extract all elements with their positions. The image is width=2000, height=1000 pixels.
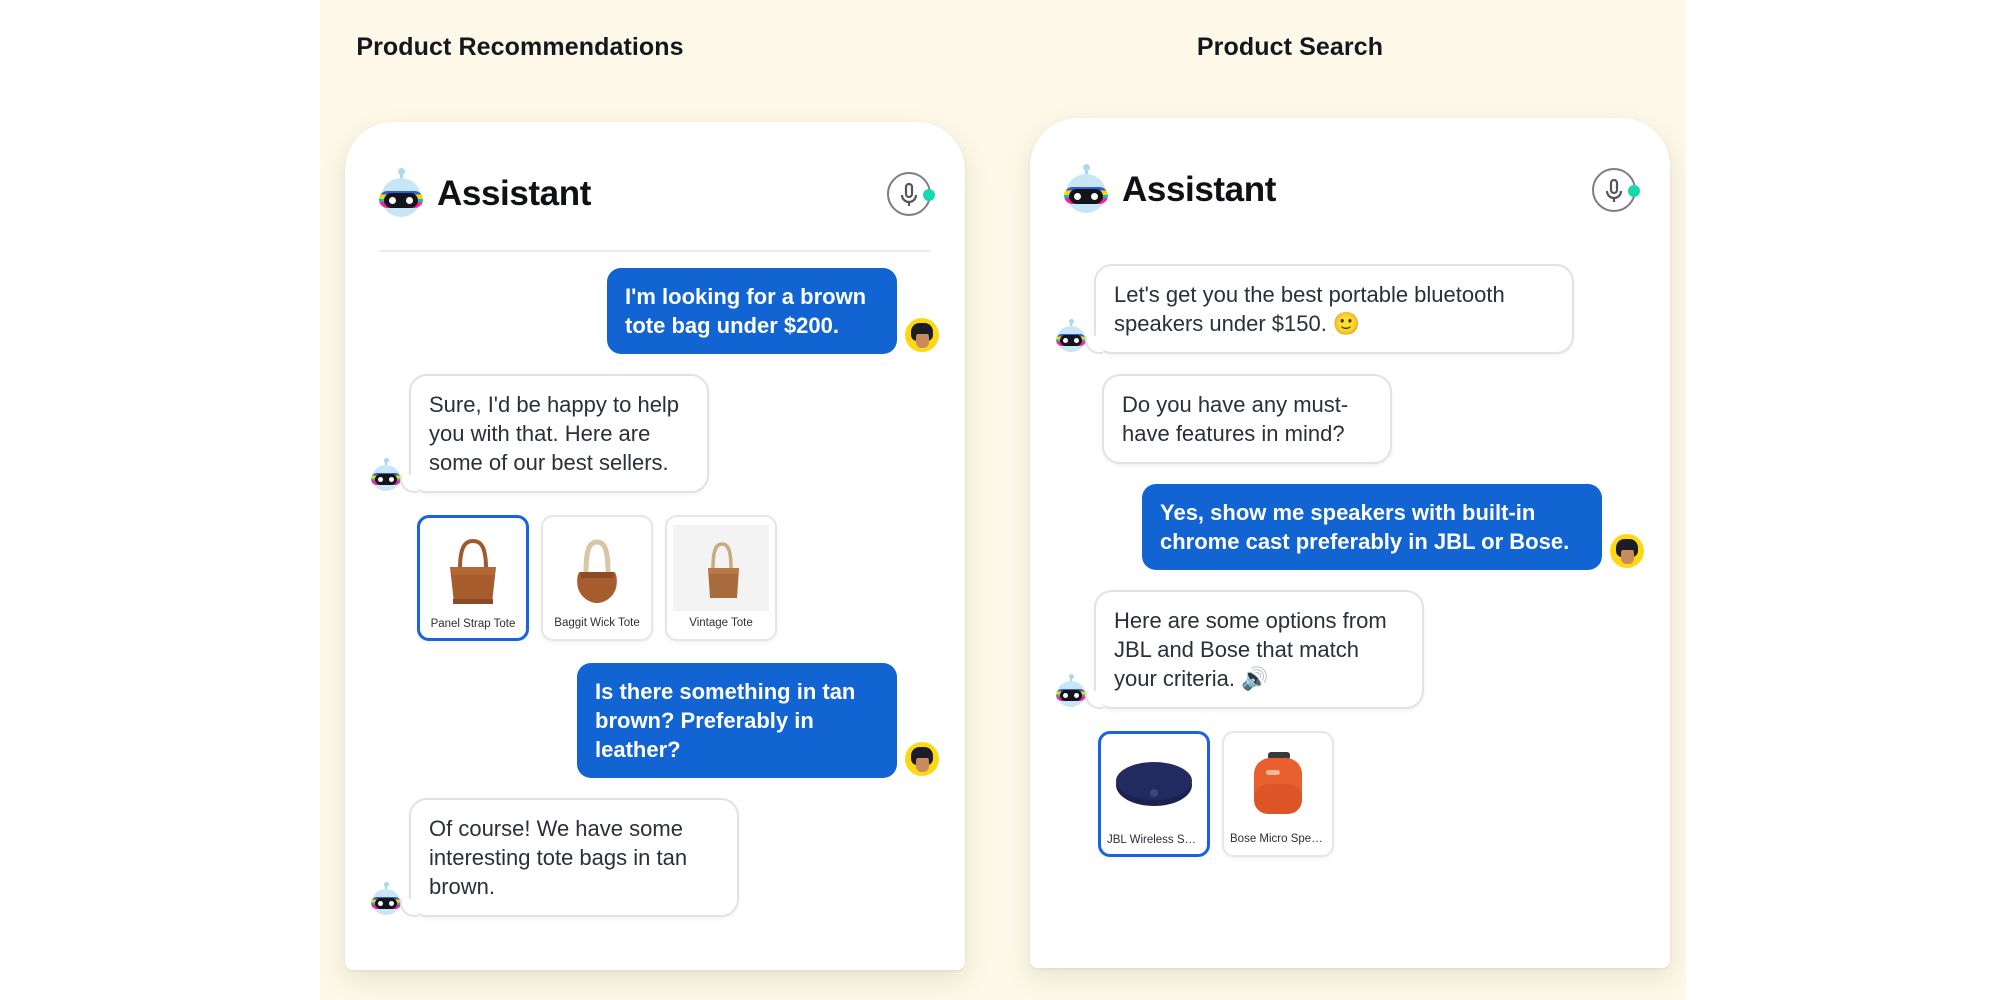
message-row-user: I'm looking for a brown tote bag under $… [371, 268, 939, 354]
user-message-bubble[interactable]: I'm looking for a brown tote bag under $… [607, 268, 897, 354]
brown-round-tote-bag-image [549, 525, 645, 611]
bot-avatar [371, 460, 401, 491]
orange-micro-speaker-image [1230, 741, 1326, 827]
product-card-label: Panel Strap Tote [431, 618, 516, 630]
message-thread-recommendations: I'm looking for a brown tote bag under $… [345, 252, 965, 917]
message-row-user: Is there something in tan brown? Prefera… [371, 663, 939, 778]
bot-message-bubble[interactable]: Let's get you the best portable bluetoot… [1094, 264, 1574, 354]
bot-message-bubble[interactable]: Do you have any must-have features in mi… [1102, 374, 1392, 464]
screenshot-stage: Product Recommendations Assistant [0, 0, 2000, 1000]
product-card-list-speakers: JBL Wireless Sp… Bose Micro Spea… [1056, 729, 1644, 879]
assistant-title: Assistant [1122, 170, 1276, 210]
chat-panel-product-recommendations: Assistant I'm looking for a brown tote b… [345, 122, 965, 970]
product-card[interactable]: Baggit Wick Tote [541, 515, 653, 641]
listening-status-dot [923, 189, 935, 201]
user-avatar [905, 742, 939, 776]
bot-message-bubble[interactable]: Of course! We have some interesting tote… [409, 798, 739, 917]
message-row-bot: Here are some options from JBL and Bose … [1056, 590, 1644, 709]
product-card-label: Bose Micro Spea… [1230, 833, 1326, 845]
message-row-bot: Of course! We have some interesting tote… [371, 798, 939, 917]
panel-title-product-recommendations: Product Recommendations [320, 33, 720, 62]
bot-avatar [1056, 676, 1086, 707]
product-card[interactable]: JBL Wireless Sp… [1098, 731, 1210, 857]
message-row-user: Yes, show me speakers with built-in chro… [1056, 484, 1644, 570]
assistant-title: Assistant [437, 174, 591, 214]
product-card-label: Vintage Tote [689, 617, 753, 629]
user-avatar [905, 318, 939, 352]
robot-avatar-icon [1064, 167, 1108, 213]
product-card-label: JBL Wireless Sp… [1107, 834, 1201, 846]
microphone-icon[interactable] [887, 172, 931, 216]
user-message-bubble[interactable]: Is there something in tan brown? Prefera… [577, 663, 897, 778]
chat-panel-product-search: Assistant Let's get you the best p [1030, 118, 1670, 968]
panel-title-product-search: Product Search [1160, 33, 1420, 62]
robot-avatar-icon [379, 171, 423, 217]
microphone-icon[interactable] [1592, 168, 1636, 212]
brown-tote-bag-image [426, 526, 520, 612]
product-card[interactable]: Panel Strap Tote [417, 515, 529, 641]
assistant-header: Assistant [1030, 118, 1670, 228]
bot-message-bubble[interactable]: Here are some options from JBL and Bose … [1094, 590, 1424, 709]
tan-vintage-tote-bag-image [673, 525, 769, 611]
user-avatar [1610, 534, 1644, 568]
product-card[interactable]: Vintage Tote [665, 515, 777, 641]
bot-avatar [371, 884, 401, 915]
listening-status-dot [1628, 185, 1640, 197]
message-thread-search: Let's get you the best portable bluetoot… [1030, 248, 1670, 879]
product-card-list-totes: Panel Strap Tote Baggit Wick Tote [371, 513, 939, 663]
navy-bluetooth-speaker-image [1107, 742, 1201, 828]
assistant-header: Assistant [345, 122, 965, 232]
bot-avatar [1056, 321, 1086, 352]
bot-message-bubble[interactable]: Sure, I'd be happy to help you with that… [409, 374, 709, 493]
message-row-bot: Sure, I'd be happy to help you with that… [371, 374, 939, 493]
product-card-label: Baggit Wick Tote [554, 617, 639, 629]
message-row-bot: Do you have any must-have features in mi… [1056, 374, 1644, 464]
user-message-bubble[interactable]: Yes, show me speakers with built-in chro… [1142, 484, 1602, 570]
message-row-bot: Let's get you the best portable bluetoot… [1056, 264, 1644, 354]
product-card[interactable]: Bose Micro Spea… [1222, 731, 1334, 857]
